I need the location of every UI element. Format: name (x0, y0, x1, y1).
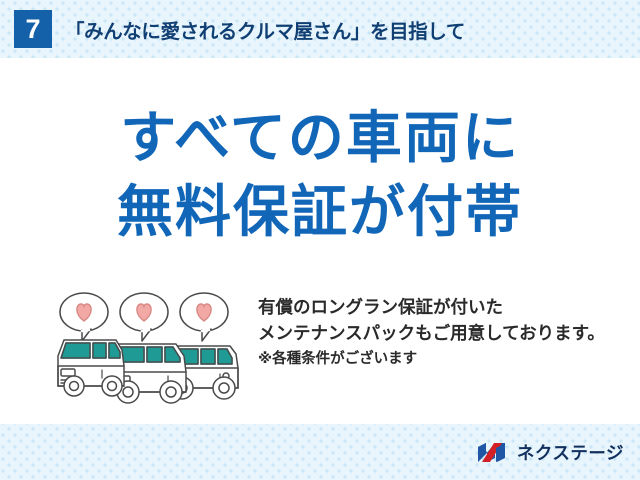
banner-header: 7 「みんなに愛されるクルマ屋さん」を目指して (0, 0, 640, 58)
brand-name: ネクステージ (517, 440, 624, 465)
detail-section: 有償のロングラン保証が付いた メンテナンスパックもご用意しております。 ※各種条… (0, 286, 640, 416)
heart-speech-bubble-2 (120, 293, 168, 341)
step-number-badge: 7 (14, 10, 52, 48)
nexstage-n-logo-icon (477, 441, 509, 464)
headline-line-2: 無料保証が付帯 (0, 176, 640, 250)
supporting-copy: 有償のロングラン保証が付いた メンテナンスパックもご用意しております。 ※各種条… (258, 295, 605, 371)
content-card: すべての車両に 無料保証が付帯 (0, 58, 640, 424)
warranty-promo-banner: 7 「みんなに愛されるクルマ屋さん」を目指して すべての車両に 無料保証が付帯 (0, 0, 640, 480)
copy-line-1: 有償のロングラン保証が付いた (258, 295, 605, 321)
header-title: 「みんなに愛されるクルマ屋さん」を目指して (65, 15, 465, 44)
copy-disclaimer: ※各種条件がございます (258, 347, 605, 371)
heart-speech-bubble-1 (60, 293, 108, 341)
headline-line-1: すべての車両に (0, 102, 640, 176)
headline: すべての車両に 無料保証が付帯 (0, 102, 640, 250)
heart-speech-bubble-3 (180, 293, 228, 341)
car-kei-van (58, 340, 124, 396)
banner-footer: ネクステージ (0, 424, 640, 480)
copy-line-2: メンテナンスパックもご用意しております。 (258, 321, 605, 347)
brand-lockup: ネクステージ (477, 440, 624, 465)
three-cars-illustration-icon (52, 288, 244, 410)
